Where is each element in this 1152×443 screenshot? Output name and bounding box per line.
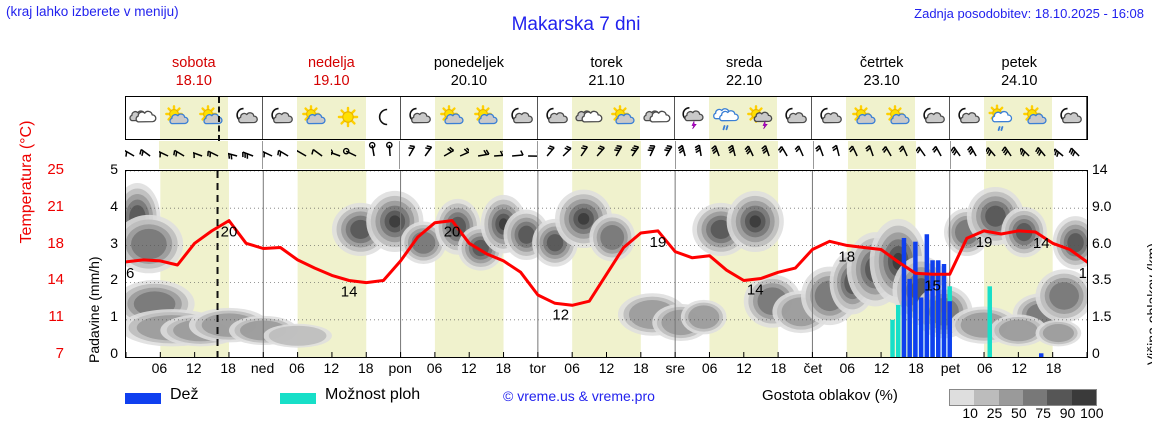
moon-cloud-icon <box>950 103 984 133</box>
wind-barb-cell <box>435 141 469 169</box>
wind-barb-icon <box>986 141 1020 169</box>
rain-legend-swatch <box>125 393 161 404</box>
wind-barb-icon <box>778 141 812 169</box>
temperature-value-label: 20 <box>444 224 461 241</box>
sun-cloud-icon <box>160 103 194 133</box>
rain-bar <box>919 297 923 357</box>
precipitation-tick-label: 5 <box>92 161 118 177</box>
day-date: 19.10 <box>263 72 401 90</box>
sun-cloud-icon <box>435 103 469 133</box>
moon-cloud-icon <box>812 103 846 133</box>
temperature-tick-label: 11 <box>32 308 64 325</box>
chart-legend: Dež Možnost ploh © vreme.us & vreme.pro … <box>125 388 1145 422</box>
weather-icon-cell <box>950 97 984 139</box>
cloud-height-tick-label: 14 <box>1092 161 1126 177</box>
time-tick-label: pet <box>941 360 960 376</box>
day-header-ponedeljek: ponedeljek20.10 <box>400 54 538 94</box>
rain-bar <box>947 301 951 357</box>
weather-icon-cell <box>297 97 331 139</box>
time-tick-label: 18 <box>771 360 787 376</box>
temperature-value-label: 14 <box>341 284 358 301</box>
wind-barb-icon <box>572 141 606 169</box>
temperature-value-label: 20 <box>221 224 238 241</box>
rain-bar <box>902 238 906 357</box>
day-date: 18.10 <box>125 72 263 90</box>
wind-barb-cell <box>1054 141 1088 169</box>
time-tick-label: 12 <box>874 360 890 376</box>
time-tick-label: sre <box>666 360 685 376</box>
wind-barb-cell <box>744 141 778 169</box>
weather-icon-cell <box>126 97 160 139</box>
wind-barb-cell <box>916 141 950 169</box>
weather-icon-cell <box>503 97 537 139</box>
wind-barb-cell <box>400 141 434 169</box>
weather-icon-cell <box>572 97 606 139</box>
cloud-height-tick-label: 6.0 <box>1092 235 1126 251</box>
wind-barb-icon <box>1020 141 1054 169</box>
cloud-ramp-label: 75 <box>1035 405 1051 421</box>
time-tick-label: 06 <box>702 360 718 376</box>
wind-barb-icon <box>228 141 262 169</box>
meteogram-plot: 162014201219141815191416 <box>125 170 1088 358</box>
temperature-value-label: 19 <box>650 234 667 251</box>
cloud-density-legend-title: Gostota oblakov (%) <box>762 387 898 404</box>
weather-icon-cell <box>743 97 777 139</box>
sun-cloud-icon <box>194 103 228 133</box>
icon-day-nedelja <box>263 97 400 139</box>
wind-day-sobota <box>125 141 263 169</box>
time-tick-label: 18 <box>358 360 374 376</box>
wind-barb-icon <box>1054 141 1088 169</box>
wind-day-četrtek <box>814 141 952 169</box>
time-tick-label: 12 <box>324 360 340 376</box>
icon-day-sreda <box>675 97 812 139</box>
time-tick-label: 18 <box>496 360 512 376</box>
moon-cloud-icon <box>777 103 811 133</box>
time-tick-label: 06 <box>427 360 443 376</box>
icon-day-torek <box>538 97 675 139</box>
time-tick-label: 06 <box>839 360 855 376</box>
temperature-value-label: 15 <box>924 277 941 294</box>
moon-cloud-icon <box>228 103 262 133</box>
wind-day-nedelja <box>263 141 401 169</box>
temperature-tick-label: 7 <box>32 345 64 362</box>
cloud-height-tick-label: 3.5 <box>1092 271 1126 287</box>
weather-icon-cell <box>331 97 365 139</box>
weather-icon-strip <box>125 96 1088 140</box>
day-name: sreda <box>675 54 813 72</box>
wind-barb-cell <box>297 141 331 169</box>
temperature-tick-label: 21 <box>32 198 64 215</box>
weather-icon-cell <box>606 97 640 139</box>
wind-barb-cell <box>228 141 262 169</box>
wind-barb-icon <box>400 141 434 169</box>
day-name: ponedeljek <box>400 54 538 72</box>
wind-barb-icon <box>848 141 882 169</box>
weather-icon-cell <box>435 97 469 139</box>
time-axis-labels: 061218ned061218pon061218tor061218sre0612… <box>125 360 1088 380</box>
precipitation-tick-label: 1 <box>92 308 118 324</box>
wind-barb-icon <box>125 141 159 169</box>
wind-barb-cell <box>365 141 399 169</box>
shower-bar <box>988 286 992 357</box>
time-tick-label: čet <box>804 360 823 376</box>
time-tick-label: 18 <box>220 360 236 376</box>
rain-bar <box>913 242 917 357</box>
day-name: petek <box>950 54 1088 72</box>
time-tick-label: 18 <box>1046 360 1062 376</box>
time-tick-label: pon <box>388 360 411 376</box>
cloud-ramp-step <box>1023 390 1047 405</box>
wind-barb-cell <box>331 141 365 169</box>
moon-cloud-icon <box>538 103 572 133</box>
wind-barb-icon <box>297 141 331 169</box>
wind-barb-cell <box>607 141 641 169</box>
rain-legend-label: Dež <box>170 386 198 404</box>
day-header-sobota: sobota18.10 <box>125 54 263 94</box>
cloud-ramp-label: 50 <box>1011 405 1027 421</box>
wind-barb-icon <box>951 141 985 169</box>
sun-storm-icon <box>743 103 777 133</box>
wind-barb-icon <box>607 141 641 169</box>
temperature-tick-label: 18 <box>32 235 64 252</box>
time-tick-label: 12 <box>186 360 202 376</box>
meteogram-svg: 162014201219141815191416 <box>126 171 1087 357</box>
icon-day-petek <box>950 97 1087 139</box>
precipitation-tick-label: 0 <box>92 345 118 361</box>
time-tick-label: 06 <box>289 360 305 376</box>
time-tick-label: 12 <box>599 360 615 376</box>
wind-barb-icon <box>331 141 365 169</box>
wind-barb-strip <box>125 141 1088 169</box>
cloud-ramp-step <box>999 390 1023 405</box>
cloud-ramp-step <box>1047 390 1071 405</box>
wind-day-sreda <box>676 141 814 169</box>
wind-barb-icon <box>676 141 710 169</box>
wind-barb-icon <box>814 141 848 169</box>
temperature-value-label: 16 <box>126 265 134 282</box>
sun-cloud-icon <box>606 103 640 133</box>
sun-cloud-icon <box>297 103 331 133</box>
day-header-sreda: sreda22.10 <box>675 54 813 94</box>
shower-bar <box>896 305 900 357</box>
weather-icon-cell <box>194 97 228 139</box>
wind-barb-cell <box>814 141 848 169</box>
current-time-marker <box>218 97 220 141</box>
shower-bar <box>890 320 894 357</box>
day-name: četrtek <box>813 54 951 72</box>
weather-icon-cell <box>675 97 709 139</box>
sun-cloud-icon <box>881 103 915 133</box>
icon-day-sobota <box>126 97 263 139</box>
weather-icon-cell <box>709 97 743 139</box>
wind-barb-cell <box>469 141 503 169</box>
wind-day-torek <box>538 141 676 169</box>
sun-cloud-icon <box>1018 103 1052 133</box>
wind-barb-cell <box>778 141 812 169</box>
icon-day-četrtek <box>812 97 949 139</box>
temperature-value-label: 14 <box>747 281 764 298</box>
cloud-ramp-label: 10 <box>962 405 978 421</box>
icon-day-ponedeljek <box>401 97 538 139</box>
wind-barb-cell <box>503 141 537 169</box>
time-tick-label: 06 <box>977 360 993 376</box>
temperature-tick-label: 25 <box>32 161 64 178</box>
wind-barb-cell <box>676 141 710 169</box>
temperature-value-label: 18 <box>838 248 855 265</box>
cloud-height-tick-label: 0 <box>1092 345 1126 361</box>
wind-barb-cell <box>1020 141 1054 169</box>
wind-barb-cell <box>263 141 297 169</box>
day-name: sobota <box>125 54 263 72</box>
wind-barb-icon <box>193 141 227 169</box>
sun-cloud-icon <box>847 103 881 133</box>
time-tick-label: 18 <box>633 360 649 376</box>
rain-bar <box>942 264 946 357</box>
wind-barb-icon <box>263 141 297 169</box>
time-tick-label: 06 <box>152 360 168 376</box>
day-date: 22.10 <box>675 72 813 90</box>
weather-icon-cell <box>640 97 674 139</box>
day-header-petek: petek24.10 <box>950 54 1088 94</box>
day-date: 20.10 <box>400 72 538 90</box>
precipitation-tick-label: 2 <box>92 271 118 287</box>
wind-barb-cell <box>538 141 572 169</box>
wind-barb-icon <box>435 141 469 169</box>
showers-legend-label: Možnost ploh <box>325 386 420 404</box>
time-tick-label: 12 <box>736 360 752 376</box>
weather-icon-cell <box>812 97 846 139</box>
wind-barb-cell <box>641 141 675 169</box>
last-update-label: Zadnja posodobitev: 18.10.2025 - 16:08 <box>914 6 1144 21</box>
wind-day-ponedeljek <box>400 141 538 169</box>
sun-rain-icon <box>984 103 1018 133</box>
moon-cloud-icon <box>263 103 297 133</box>
weather-icon-cell <box>469 97 503 139</box>
day-name: nedelja <box>263 54 401 72</box>
rain-bar <box>907 279 911 357</box>
sun-cloud-icon <box>469 103 503 133</box>
weather-icon-cell <box>1018 97 1052 139</box>
day-header-nedelja: nedelja19.10 <box>263 54 401 94</box>
wind-barb-cell <box>159 141 193 169</box>
rain-bar <box>1039 353 1043 357</box>
weather-icon-cell <box>1052 97 1086 139</box>
wind-barb-icon <box>710 141 744 169</box>
wind-barb-cell <box>193 141 227 169</box>
cloud-density-ramp-labels: 1025507590100 <box>940 405 1110 421</box>
temperature-axis-title-text: Temperatura (°C) <box>18 121 36 244</box>
weather-icon-cell <box>915 97 949 139</box>
wind-day-petek <box>951 141 1088 169</box>
wind-barb-cell <box>125 141 159 169</box>
wind-barb-cell <box>951 141 985 169</box>
weather-icon-cell <box>401 97 435 139</box>
time-tick-label: 06 <box>564 360 580 376</box>
cloud-ramp-step <box>950 390 974 405</box>
cloudy-icon <box>572 103 606 133</box>
moon-cloud-icon <box>503 103 537 133</box>
wind-barb-icon <box>538 141 572 169</box>
cloud-ramp-label: 90 <box>1060 405 1076 421</box>
day-header-torek: torek21.10 <box>538 54 676 94</box>
cloudy-icon <box>640 103 674 133</box>
wind-barb-icon <box>641 141 675 169</box>
day-date: 24.10 <box>950 72 1088 90</box>
time-tick-label: 12 <box>461 360 477 376</box>
wind-barb-icon <box>882 141 916 169</box>
weather-icon-cell <box>846 97 880 139</box>
precipitation-tick-label: 4 <box>92 198 118 214</box>
time-tick-label: 12 <box>1011 360 1027 376</box>
wind-barb-icon <box>469 141 503 169</box>
time-tick-label: tor <box>530 360 546 376</box>
wind-barb-icon <box>365 141 399 169</box>
weather-icon-cell <box>263 97 297 139</box>
copyright-label: © vreme.us & vreme.pro <box>503 388 655 404</box>
time-tick-label: 18 <box>908 360 924 376</box>
day-date: 21.10 <box>538 72 676 90</box>
wind-barb-cell <box>986 141 1020 169</box>
rain-cloud-icon <box>709 103 743 133</box>
wind-barb-icon <box>503 141 537 169</box>
temperature-tick-label: 14 <box>32 271 64 288</box>
cloud-density-color-ramp <box>949 389 1097 406</box>
wind-barb-cell <box>882 141 916 169</box>
weather-icon-cell <box>881 97 915 139</box>
day-header-row: sobota18.10nedelja19.10ponedeljek20.10to… <box>125 54 1088 94</box>
weather-icon-cell <box>538 97 572 139</box>
cloud-height-tick-label: 9.0 <box>1092 198 1126 214</box>
wind-barb-cell <box>572 141 606 169</box>
cloud-ramp-label: 25 <box>987 405 1003 421</box>
showers-legend-swatch <box>280 393 316 404</box>
wind-barb-cell <box>710 141 744 169</box>
precipitation-tick-label: 3 <box>92 235 118 251</box>
moon-cloud-icon <box>401 103 435 133</box>
weather-icon-cell <box>777 97 811 139</box>
moon-cloud-icon <box>915 103 949 133</box>
weather-icon-cell <box>984 97 1018 139</box>
weather-icon-cell <box>228 97 262 139</box>
temperature-value-label: 19 <box>976 234 993 251</box>
weather-icon-cell <box>366 97 400 139</box>
rain-bar <box>925 234 929 357</box>
cloudy-icon <box>126 103 160 133</box>
precipitation-axis-title: Padavine (mm/h) <box>66 175 92 355</box>
wind-barb-icon <box>916 141 950 169</box>
day-date: 23.10 <box>813 72 951 90</box>
moon-storm-icon <box>675 103 709 133</box>
weather-icon-cell <box>160 97 194 139</box>
sun-icon <box>331 103 365 133</box>
wind-barb-cell <box>848 141 882 169</box>
cloud-ramp-step <box>1072 390 1096 405</box>
moon-cloud-icon <box>1052 103 1086 133</box>
cloud-height-tick-label: 1.5 <box>1092 308 1126 324</box>
moon-icon <box>366 103 400 133</box>
wind-barb-icon <box>744 141 778 169</box>
temperature-value-label: 12 <box>552 306 569 323</box>
wind-barb-icon <box>159 141 193 169</box>
cloud-ramp-label: 100 <box>1080 405 1103 421</box>
temperature-value-label: 16 <box>1079 265 1087 282</box>
day-header-četrtek: četrtek23.10 <box>813 54 951 94</box>
cloud-ramp-step <box>974 390 998 405</box>
time-tick-label: ned <box>251 360 274 376</box>
cloud-height-axis-title-text: Višina oblakov (km) <box>1144 243 1152 365</box>
temperature-value-label: 14 <box>1033 235 1050 252</box>
day-name: torek <box>538 54 676 72</box>
